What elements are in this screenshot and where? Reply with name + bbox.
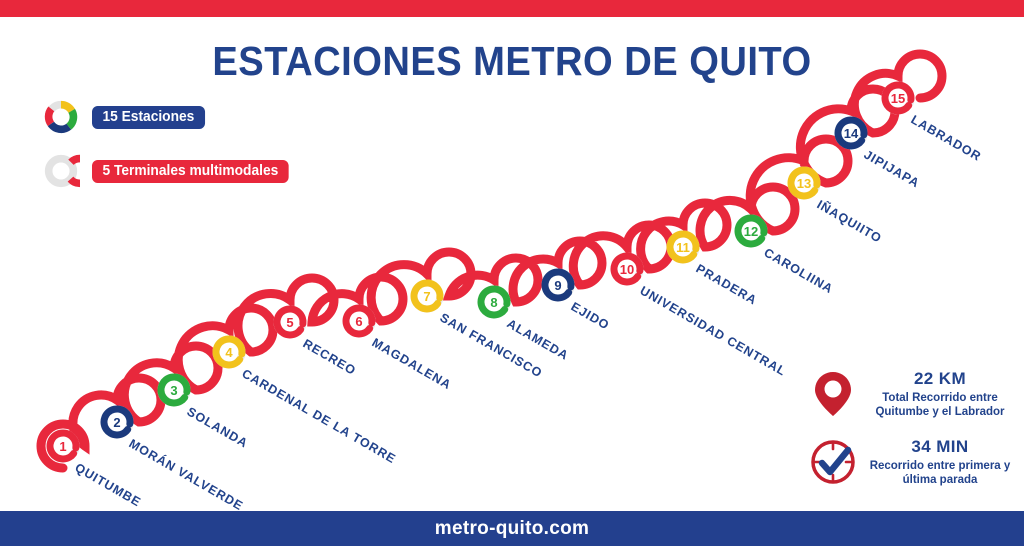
- stat-distance: 22 KM Total Recorrido entre Quitumbe y e…: [806, 366, 1020, 422]
- footer-website: metro-quito.com: [435, 518, 589, 540]
- stat-distance-desc: Total Recorrido entre Quitumbe y el Labr…: [860, 391, 1020, 420]
- station-number: 3: [170, 383, 177, 398]
- station-node-1[interactable]: 1: [50, 433, 76, 459]
- clock-check-icon: [806, 434, 860, 490]
- station-label-4: CARDENAL DE LA TORRE: [240, 366, 399, 466]
- station-label-15: LABRADOR: [909, 112, 984, 163]
- station-node-2[interactable]: 2: [104, 409, 130, 435]
- station-number: 12: [744, 224, 758, 239]
- station-node-7[interactable]: 7: [414, 283, 440, 309]
- station-number: 14: [844, 126, 859, 141]
- stat-duration: 34 MIN Recorrido entre primera y última …: [806, 434, 1020, 490]
- station-label-7: SAN FRANCISCO: [438, 310, 545, 380]
- station-number: 7: [423, 289, 430, 304]
- station-node-3[interactable]: 3: [161, 377, 187, 403]
- station-label-6: MAGDALENA: [370, 335, 454, 392]
- stat-duration-desc: Recorrido entre primera y última parada: [860, 459, 1020, 488]
- station-label-10: UNIVERSIDAD CENTRAL: [638, 283, 789, 378]
- footer-bar: metro-quito.com: [0, 511, 1024, 546]
- station-label-5: RECREO: [301, 336, 359, 378]
- station-number: 6: [355, 314, 362, 329]
- station-node-6[interactable]: 6: [346, 308, 372, 334]
- station-node-13[interactable]: 13: [791, 170, 817, 196]
- station-number: 13: [797, 176, 811, 191]
- station-label-14: JIPIJAPA: [862, 147, 923, 190]
- station-label-2: MORÁN VALVERDE: [127, 436, 247, 514]
- station-node-10[interactable]: 10: [614, 256, 640, 282]
- station-label-11: PRADERA: [694, 261, 760, 307]
- station-number: 5: [286, 315, 293, 330]
- station-number: 10: [620, 262, 634, 277]
- station-number: 15: [891, 91, 905, 106]
- station-label-13: IÑAQUIITO: [815, 197, 885, 246]
- station-number: 1: [59, 439, 66, 454]
- station-node-4[interactable]: 4: [216, 339, 242, 365]
- stats-panel: 22 KM Total Recorrido entre Quitumbe y e…: [806, 366, 1020, 502]
- station-number: 2: [113, 415, 120, 430]
- infographic-page: ESTACIONES METRO DE QUITO 15 Estaciones: [0, 0, 1024, 546]
- station-node-14[interactable]: 14: [838, 120, 864, 146]
- station-number: 8: [490, 295, 497, 310]
- station-node-5[interactable]: 5: [277, 309, 303, 335]
- station-label-1: QUITUMBE: [73, 460, 144, 509]
- station-number: 9: [554, 278, 561, 293]
- station-node-9[interactable]: 9: [545, 272, 571, 298]
- station-node-12[interactable]: 12: [738, 218, 764, 244]
- station-node-8[interactable]: 8: [481, 289, 507, 315]
- map-pin-icon: [806, 366, 860, 422]
- station-label-3: SOLANDA: [185, 404, 251, 450]
- station-node-11[interactable]: 11: [670, 234, 696, 260]
- station-number: 4: [225, 345, 233, 360]
- station-label-9: EJIDO: [569, 299, 612, 332]
- station-node-15[interactable]: 15: [885, 85, 911, 111]
- stat-duration-value: 34 MIN: [860, 437, 1020, 457]
- station-label-12: CAROLIINA: [762, 245, 836, 296]
- station-number: 11: [676, 240, 690, 255]
- stat-distance-value: 22 KM: [860, 369, 1020, 389]
